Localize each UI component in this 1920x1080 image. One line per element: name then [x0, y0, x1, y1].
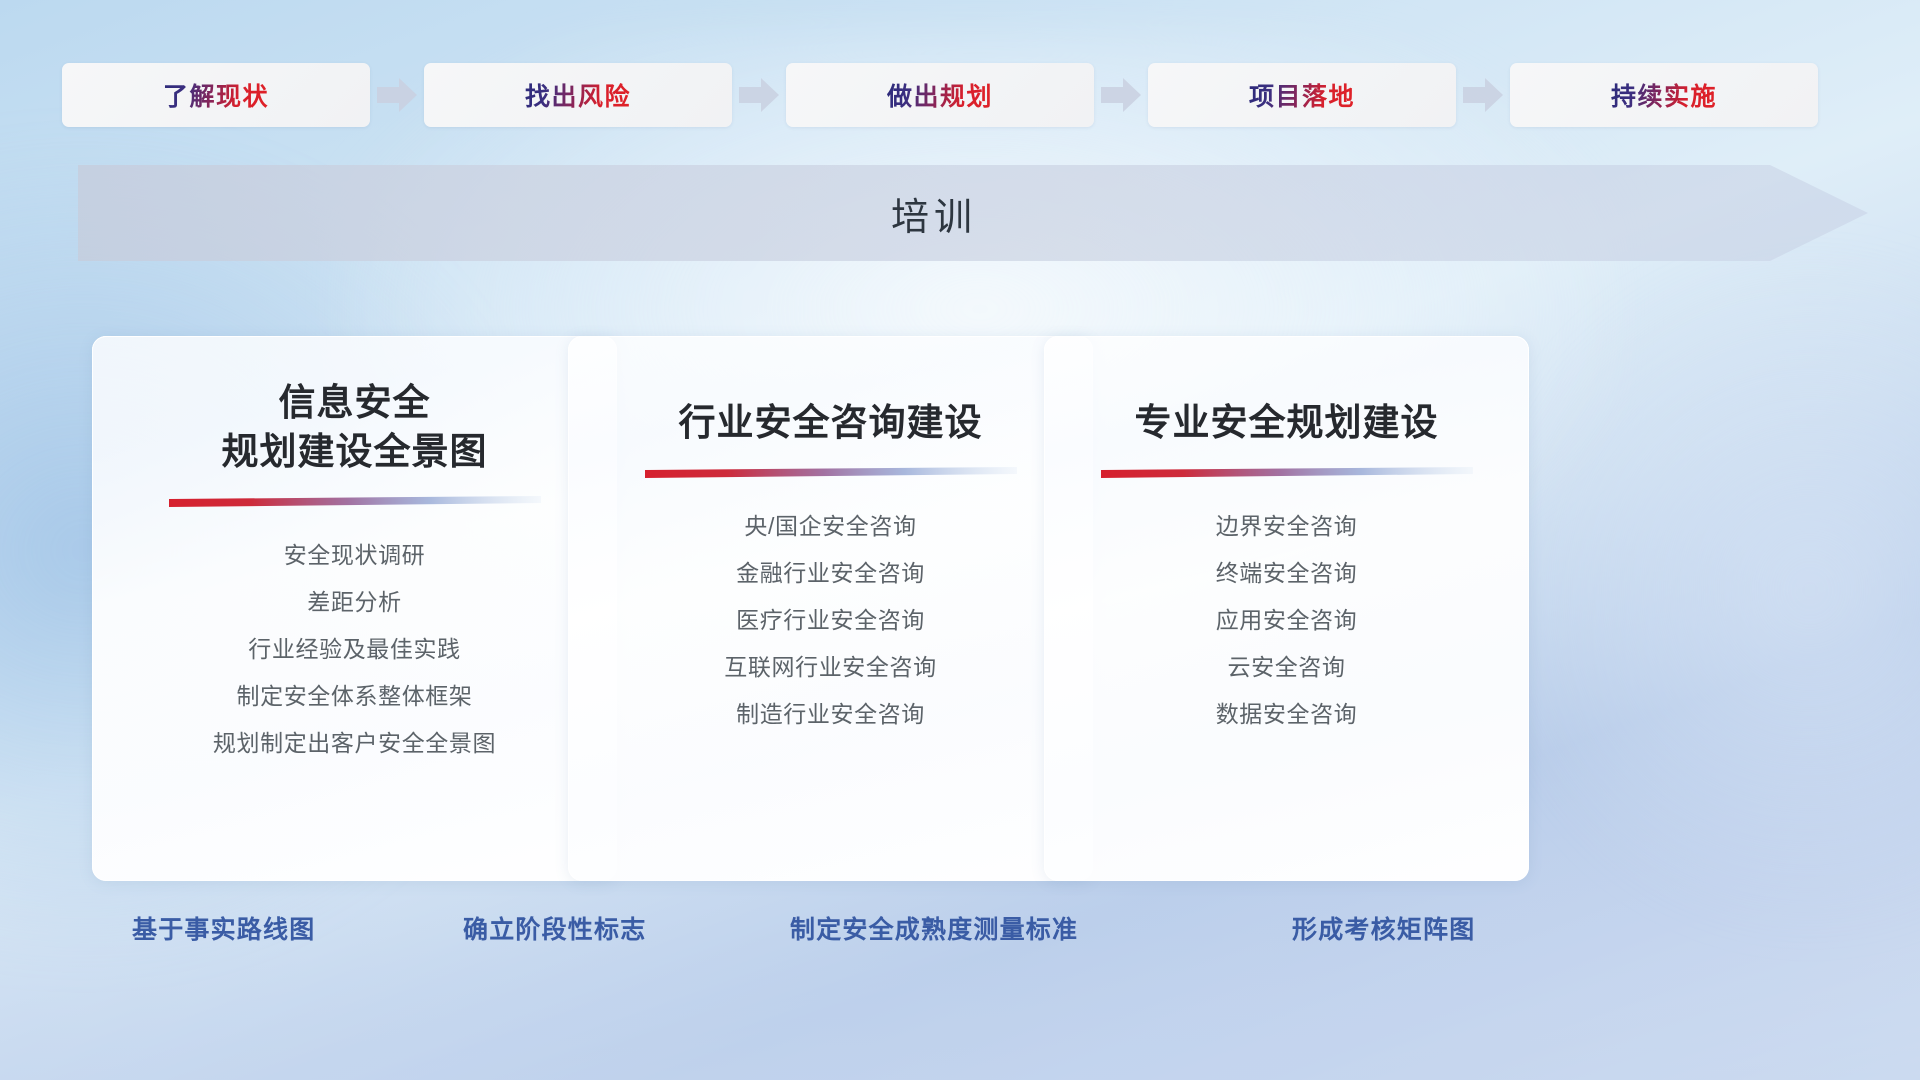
- card-industry-security-consulting[interactable]: 行业安全咨询建设 央/国企安全咨询 金融行业安全咨询 医疗行业安全咨询: [568, 336, 1093, 881]
- list-item: 制造行业安全咨询: [568, 691, 1093, 738]
- process-step-row: 了解现状 找出风险 做出规划 项目落地 持续实施: [62, 62, 1858, 128]
- process-step-label: 项目落地: [1249, 77, 1355, 113]
- list-item: 金融行业安全咨询: [568, 550, 1093, 597]
- list-item: 行业经验及最佳实践: [92, 626, 617, 673]
- process-step-label: 持续实施: [1611, 77, 1717, 113]
- list-item: 云安全咨询: [1044, 644, 1529, 691]
- footer-label-4: 形成考核矩阵图: [1292, 910, 1475, 946]
- process-step-4[interactable]: 项目落地: [1148, 63, 1456, 127]
- card-item-list: 央/国企安全咨询 金融行业安全咨询 医疗行业安全咨询 互联网行业安全咨询 制造行…: [568, 503, 1093, 738]
- process-step-1[interactable]: 了解现状: [62, 63, 370, 127]
- arrow-right-icon: [732, 78, 786, 112]
- card-information-security-panorama[interactable]: 信息安全 规划建设全景图 安全现状调研 差距分析 行业经验及最佳实践: [92, 336, 617, 881]
- list-item: 安全现状调研: [92, 532, 617, 579]
- card-accent-rule: [1101, 467, 1473, 479]
- list-item: 终端安全咨询: [1044, 550, 1529, 597]
- training-banner: 培训: [78, 165, 1868, 261]
- card-title: 行业安全咨询建设: [568, 398, 1093, 447]
- banner-title: 培训: [78, 165, 1790, 261]
- list-item: 数据安全咨询: [1044, 691, 1529, 738]
- process-step-label: 做出规划: [887, 77, 993, 113]
- card-professional-security-planning[interactable]: 专业安全规划建设 边界安全咨询 终端安全咨询 应用安全咨询 云安全: [1044, 336, 1529, 881]
- list-item: 医疗行业安全咨询: [568, 597, 1093, 644]
- footer-label-row: 基于事实路线图 确立阶段性标志 制定安全成熟度测量标准 形成考核矩阵图: [0, 910, 1920, 964]
- card-accent-rule: [645, 467, 1017, 479]
- arrow-right-icon: [370, 78, 424, 112]
- process-step-label: 找出风险: [525, 77, 631, 113]
- list-item: 差距分析: [92, 579, 617, 626]
- arrow-right-icon: [1456, 78, 1510, 112]
- list-item: 互联网行业安全咨询: [568, 644, 1093, 691]
- process-step-5[interactable]: 持续实施: [1510, 63, 1818, 127]
- card-item-list: 边界安全咨询 终端安全咨询 应用安全咨询 云安全咨询 数据安全咨询: [1044, 503, 1529, 738]
- card-item-list: 安全现状调研 差距分析 行业经验及最佳实践 制定安全体系整体框架 规划制定出客户…: [92, 532, 617, 767]
- list-item: 应用安全咨询: [1044, 597, 1529, 644]
- list-item: 制定安全体系整体框架: [92, 673, 617, 720]
- footer-label-2: 确立阶段性标志: [463, 910, 646, 946]
- arrow-right-icon: [1094, 78, 1148, 112]
- card-accent-rule: [169, 496, 541, 508]
- footer-label-1: 基于事实路线图: [132, 910, 315, 946]
- footer-label-3: 制定安全成熟度测量标准: [790, 910, 1078, 946]
- card-row: 信息安全 规划建设全景图 安全现状调研 差距分析 行业经验及最佳实践: [0, 336, 1920, 881]
- process-step-2[interactable]: 找出风险: [424, 63, 732, 127]
- card-title: 信息安全 规划建设全景图: [92, 378, 617, 476]
- list-item: 央/国企安全咨询: [568, 503, 1093, 550]
- list-item: 边界安全咨询: [1044, 503, 1529, 550]
- list-item: 规划制定出客户安全全景图: [92, 720, 617, 767]
- process-step-label: 了解现状: [163, 77, 269, 113]
- card-title: 专业安全规划建设: [1044, 398, 1529, 447]
- process-step-3[interactable]: 做出规划: [786, 63, 1094, 127]
